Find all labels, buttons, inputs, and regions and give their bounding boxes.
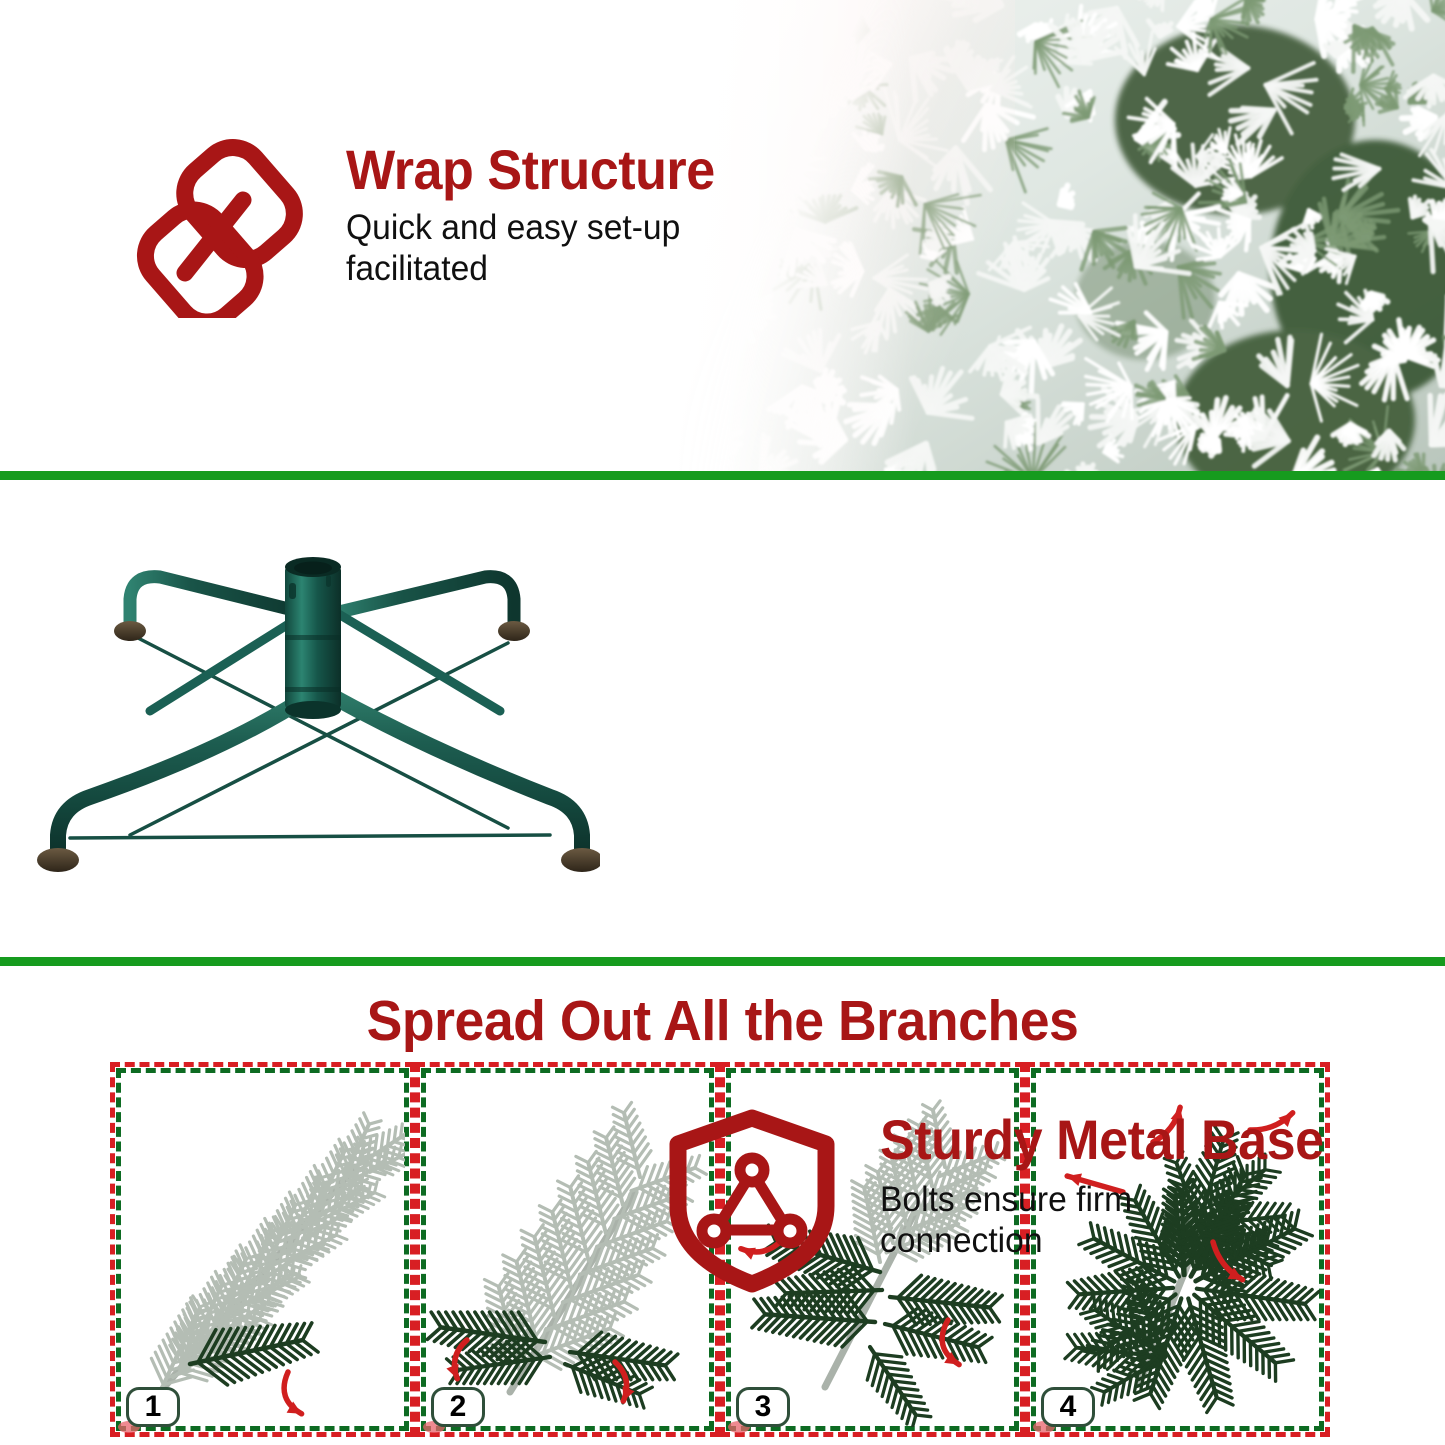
step-panel-1: 1 (110, 1062, 415, 1437)
section-sturdy-metal-base: Sturdy Metal Base Bolts ensure firm conn… (0, 480, 1445, 957)
feature-title: Wrap Structure (346, 142, 715, 198)
metal-tree-stand-image (30, 535, 600, 895)
feature-sturdy-metal-base: Sturdy Metal Base Bolts ensure firm conn… (662, 1108, 1357, 1298)
step-illustration (120, 1072, 405, 1427)
section-wrap-structure: Wrap Structure Quick and easy set-up fac… (0, 0, 1445, 476)
infographic-page: Wrap Structure Quick and easy set-up fac… (0, 0, 1445, 1445)
page-title: Spread Out All the Branches (43, 988, 1401, 1054)
feature-title: Sturdy Metal Base (880, 1112, 1324, 1168)
stand-center-post (285, 557, 341, 719)
section-divider-2 (0, 957, 1445, 966)
feature-subtitle-line-2: facilitated (346, 249, 727, 290)
section-divider-1 (0, 471, 1445, 480)
flocked-tree-photo (675, 0, 1445, 476)
chain-link-icon (133, 138, 308, 323)
step-number-badge: 2 (431, 1387, 485, 1427)
feature-subtitle-line-1: Quick and easy set-up (346, 208, 727, 249)
feature-wrap-structure: Wrap Structure Quick and easy set-up fac… (133, 138, 742, 323)
branch-diagram-1 (120, 1072, 405, 1427)
shield-triangle-icon (662, 1108, 842, 1298)
feature-text-block: Wrap Structure Quick and easy set-up fac… (346, 138, 742, 290)
feature-text-block: Sturdy Metal Base Bolts ensure firm conn… (880, 1108, 1357, 1262)
step-number-badge: 4 (1041, 1387, 1095, 1427)
feature-subtitle-line-1: Bolts ensure firm (880, 1180, 1338, 1221)
step-number-badge: 3 (736, 1387, 790, 1427)
step-number-badge: 1 (126, 1387, 180, 1427)
feature-subtitle-line-2: connection (880, 1221, 1338, 1262)
tree-stand-illustration (30, 535, 600, 895)
